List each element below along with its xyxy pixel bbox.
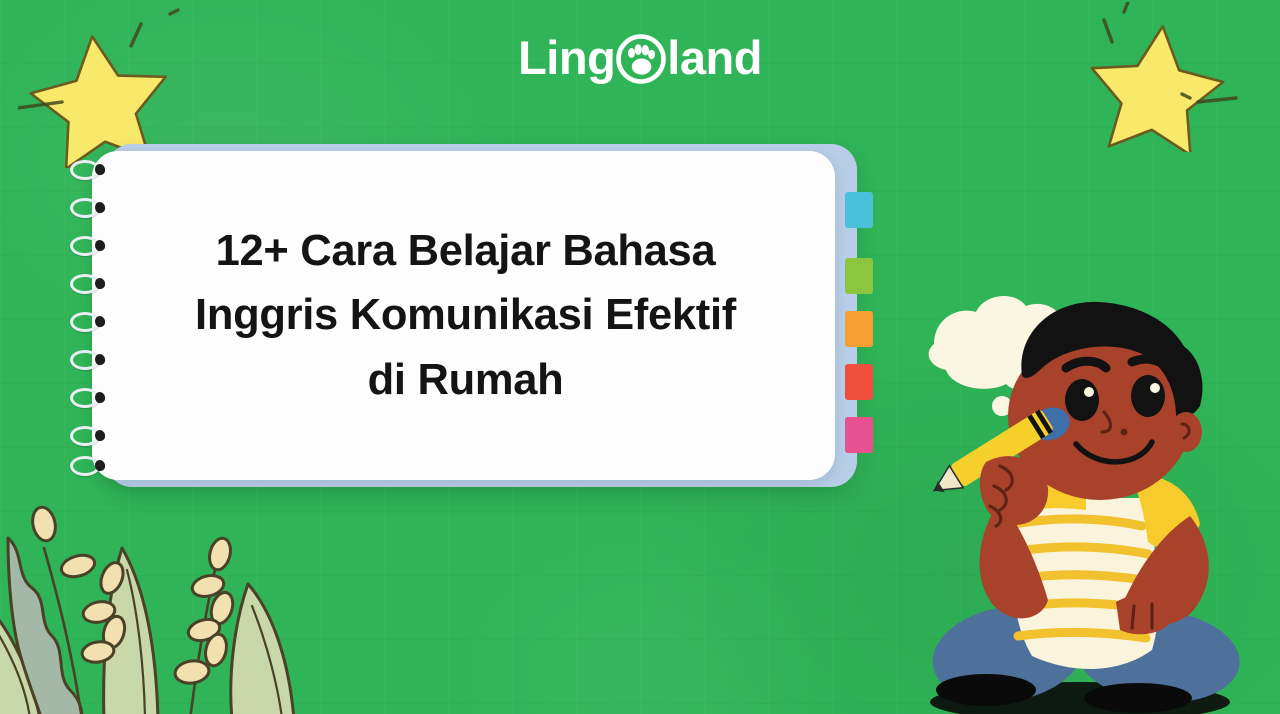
spiral-ring <box>70 160 114 180</box>
spiral-ring <box>70 426 114 446</box>
title-line-1: 12+ Cara Belajar Bahasa <box>216 219 716 283</box>
brand-logo[interactable]: Ling land <box>0 32 1280 82</box>
promo-thumbnail: 12+ Cara Belajar Bahasa Inggris Komunika… <box>0 0 1280 714</box>
spiral-ring <box>70 198 114 218</box>
spiral-ring <box>70 236 114 256</box>
foliage-decoration <box>0 490 316 714</box>
spiral-ring <box>70 456 114 476</box>
notebook-tabs <box>845 144 873 487</box>
spiral-ring <box>70 388 114 408</box>
notebook-spiral-binding <box>70 156 128 475</box>
eye-left <box>1065 379 1099 421</box>
eye-right <box>1131 375 1165 417</box>
notebook-card: 12+ Cara Belajar Bahasa Inggris Komunika… <box>92 144 857 487</box>
brand-name-part1: Ling <box>518 34 615 81</box>
notebook-tab-red[interactable] <box>845 364 873 400</box>
title-line-2: Inggris Komunikasi Efektif <box>195 283 736 347</box>
spiral-ring <box>70 274 114 294</box>
notebook-tab-lime[interactable] <box>845 258 873 294</box>
page-title: 12+ Cara Belajar Bahasa Inggris Komunika… <box>132 144 799 487</box>
spiral-ring <box>70 312 114 332</box>
spiral-ring <box>70 350 114 370</box>
notebook-tab-orange[interactable] <box>845 311 873 347</box>
brand-name-part2: land <box>667 34 762 81</box>
notebook-tab-pink[interactable] <box>845 417 873 453</box>
paw-print-icon <box>616 34 666 84</box>
illustration-boy-thinking <box>890 284 1260 714</box>
notebook-tab-cyan[interactable] <box>845 192 873 228</box>
title-line-3: di Rumah <box>368 348 564 412</box>
